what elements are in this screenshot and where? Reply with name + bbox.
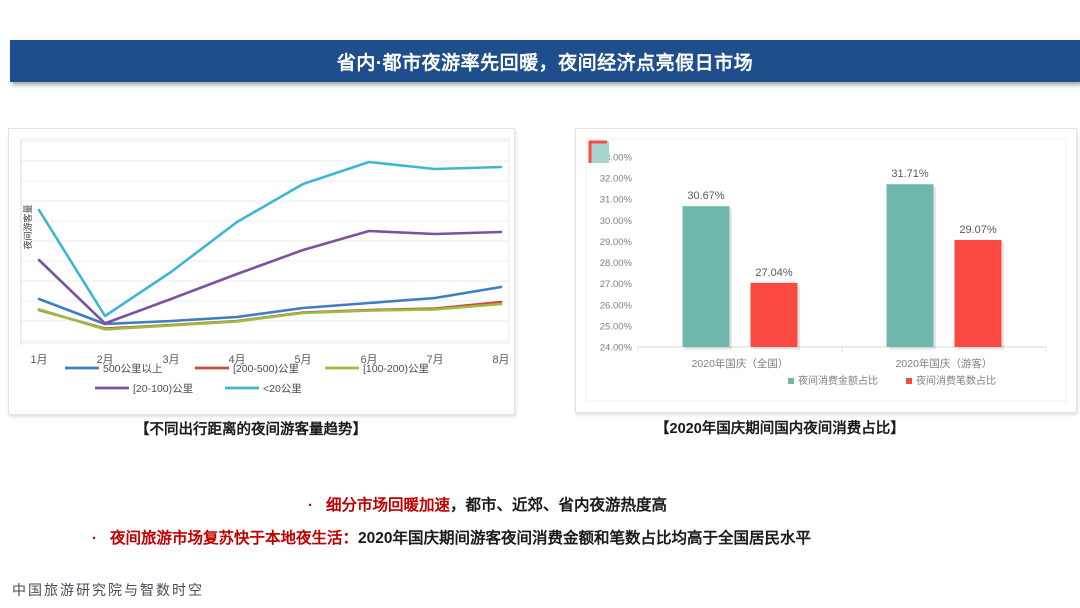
legend-swatch [906,378,912,384]
bar-value-label: 30.67% [687,190,725,202]
y-tick-label: 27.00% [600,279,633,290]
x-tick-label: 8月 [492,354,509,366]
y-tick-label: 30.00% [600,216,633,227]
line-chart-caption: 【不同出行距离的夜间游客量趋势】 [135,418,367,439]
legend-label: 夜间消费金额占比 [798,374,878,387]
bullet-marker-icon: · [92,531,97,546]
page-title: 省内·都市夜游率先回暖，夜间经济点亮假日市场 [337,48,753,75]
x-tick-label: 7月 [426,354,443,366]
bullet-item-2: · 夜间旅游市场复苏快于本地夜生活： 2020年国庆期间游客夜间消费金额和笔数占… [92,526,811,548]
night-consumption-chart: 33.00%32.00%31.00%30.00%29.00%28.00%27.0… [576,129,1076,412]
bullet-item-1: · 细分市场回暖加速 ，都市、近郊、省内夜游热度高 [308,493,667,515]
legend-label: <20公里 [263,383,302,395]
bullet-marker-icon: · [308,498,313,513]
bullet-1-text: ，都市、近郊、省内夜游热度高 [450,493,667,515]
y-axis-label: 夜间游客量 [22,204,33,249]
y-tick-label: 29.00% [600,237,633,248]
bullet-2-highlight: 夜间旅游市场复苏快于本地夜生活： [110,526,358,548]
bullet-1-highlight: 细分市场回暖加速 [326,493,450,515]
bar-chart-panel: 33.00%32.00%31.00%30.00%29.00%28.00%27.0… [575,128,1077,413]
legend-label: 500公里以上 [103,363,163,375]
bar [683,206,730,347]
line-series [39,162,501,316]
bar-value-label: 31.71% [891,168,929,180]
bar-chart-caption: 【2020年国庆期间国内夜间消费占比】 [655,417,905,438]
y-tick-label: 28.00% [600,258,633,269]
stray-legend-swatch-fill [590,141,609,163]
bar-value-label: 27.04% [755,267,793,279]
x-tick-label: 3月 [162,354,179,366]
y-tick-label: 26.00% [600,300,633,311]
bar [955,240,1002,347]
y-tick-label: 24.00% [600,343,633,354]
x-category-label: 2020年国庆（全国） [692,357,789,370]
bar [887,184,934,347]
y-tick-label: 32.00% [600,174,633,185]
bullet-2-text: 2020年国庆期间游客夜间消费金额和笔数占比均高于全国居民水平 [358,526,811,548]
slide-title-bar: 省内·都市夜游率先回暖，夜间经济点亮假日市场 [10,40,1080,82]
legend-label: [200-500)公里 [233,363,299,375]
y-tick-label: 25.00% [600,321,633,332]
x-category-label: 2020年国庆（游客） [896,357,993,370]
legend-label: [100-200)公里 [363,363,429,375]
line-chart-panel: 夜间游客量1月2月3月4月5月6月7月8月500公里以上[200-500)公里[… [8,128,515,415]
bar-value-label: 29.07% [959,224,997,236]
x-tick-label: 1月 [30,354,47,366]
footer-source: 中国旅游研究院与智数时空 [12,580,204,600]
bar [751,283,798,347]
legend-label: [20-100)公里 [133,383,193,395]
legend-label: 夜间消费笔数占比 [916,374,996,387]
legend-swatch [788,378,794,384]
y-tick-label: 31.00% [600,195,633,206]
night-visitor-trend-chart: 夜间游客量1月2月3月4月5月6月7月8月500公里以上[200-500)公里[… [9,129,514,414]
